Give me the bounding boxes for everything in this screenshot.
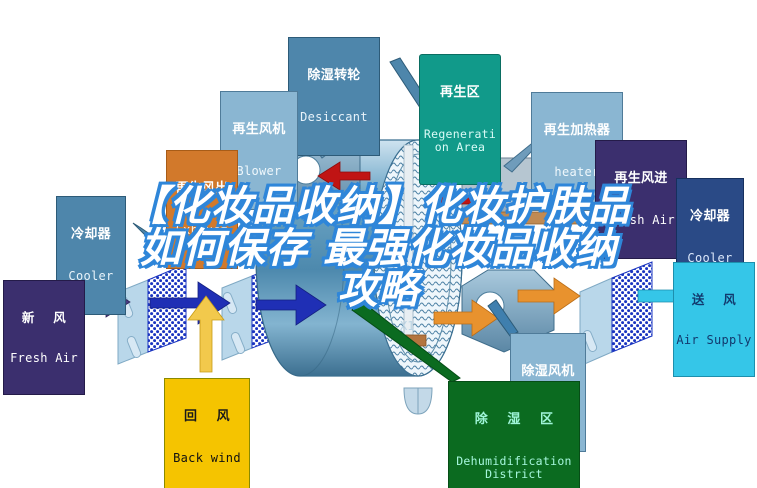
label-regen-fresh-air: 再生风进 Fresh Air: [595, 140, 687, 259]
label-dehumidification-district: 除 湿 区 Dehumidification District: [448, 381, 580, 488]
label-regen-fresh-air-cn: 再生风进: [598, 172, 684, 186]
label-dehumid-district-cn: 除 湿 区: [451, 413, 577, 427]
label-regen-heater-cn: 再生加热器: [534, 124, 620, 138]
label-exhaust: 再生风出 Exhaust: [166, 150, 238, 269]
label-regeneration-area: 再生区 Regenerati on Area: [419, 54, 501, 185]
label-back-wind-en: Back wind: [167, 452, 247, 465]
label-dehumid-blower-cn: 除湿风机: [513, 365, 583, 379]
cooler-coil-left: [118, 264, 186, 364]
label-air-supply-cn: 送 风: [676, 293, 752, 307]
label-cooler-left-cn: 冷却器: [59, 228, 123, 242]
label-air-supply: 送 风 Air Supply: [673, 262, 755, 377]
label-desiccant-wheel: 除湿转轮 Desiccant: [288, 37, 380, 156]
label-regeneration-area-cn: 再生区: [422, 86, 498, 100]
supply-coil-right: [580, 262, 652, 366]
label-regeneration-area-en: Regenerati on Area: [422, 128, 498, 153]
label-dehumid-district-en: Dehumidification District: [451, 455, 577, 480]
label-fresh-air-inlet-cn: 新 风: [6, 311, 82, 325]
label-desiccant-wheel-en: Desiccant: [291, 111, 377, 124]
label-air-supply-en: Air Supply: [676, 334, 752, 347]
label-exhaust-en: Exhaust: [169, 224, 235, 237]
label-back-wind: 回 风 Back wind: [164, 378, 250, 488]
label-fresh-air-inlet-en: Fresh Air: [6, 352, 82, 365]
label-cooler-right-cn: 冷却器: [679, 210, 741, 224]
label-regen-blower-cn: 再生风机: [223, 123, 295, 137]
diagram-canvas: X1: [0, 0, 757, 488]
label-regen-fresh-air-en: Fresh Air: [598, 214, 684, 227]
label-desiccant-wheel-cn: 除湿转轮: [291, 69, 377, 83]
label-fresh-air-inlet: 新 风 Fresh Air: [3, 280, 85, 395]
label-exhaust-cn: 再生风出: [169, 182, 235, 196]
svg-text:X1: X1: [400, 319, 414, 333]
label-back-wind-cn: 回 风: [167, 410, 247, 424]
